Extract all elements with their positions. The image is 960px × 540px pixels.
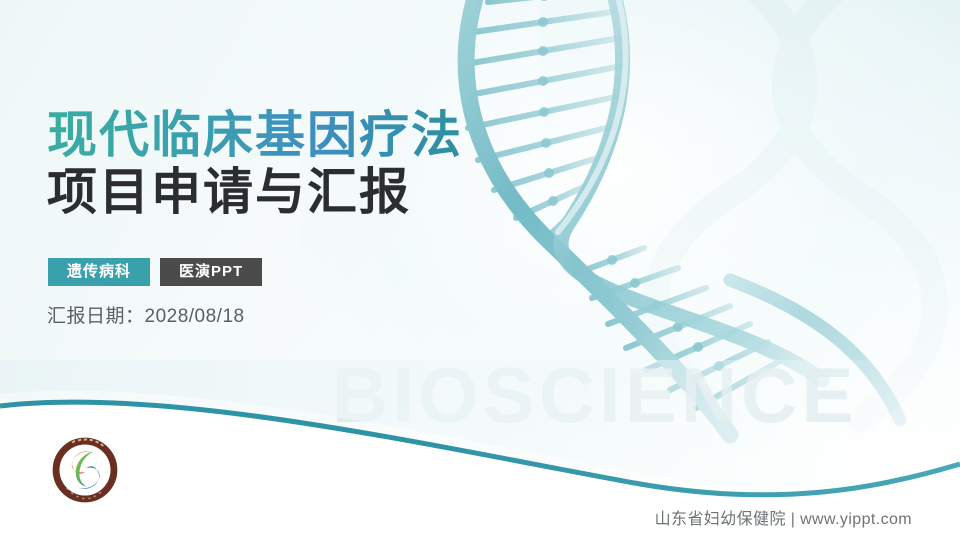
page-title-secondary: 项目申请与汇报	[47, 165, 411, 219]
badge-department[interactable]: 遗传病科	[48, 258, 150, 286]
badge-row: 遗传病科 医演PPT	[48, 258, 262, 286]
report-date: 汇报日期：2028/08/18	[47, 301, 245, 328]
hospital-logo	[52, 437, 118, 503]
page-title-primary: 现代临床基因疗法	[47, 108, 463, 162]
badge-source[interactable]: 医演PPT	[160, 258, 262, 286]
presentation-title-slide: BIOSCIENCE 现代临床基因疗法 项目申请与汇报 遗传病科 医演PPT 汇…	[0, 0, 960, 540]
footer-text: 山东省妇幼保健院 | www.yippt.com	[655, 505, 912, 529]
